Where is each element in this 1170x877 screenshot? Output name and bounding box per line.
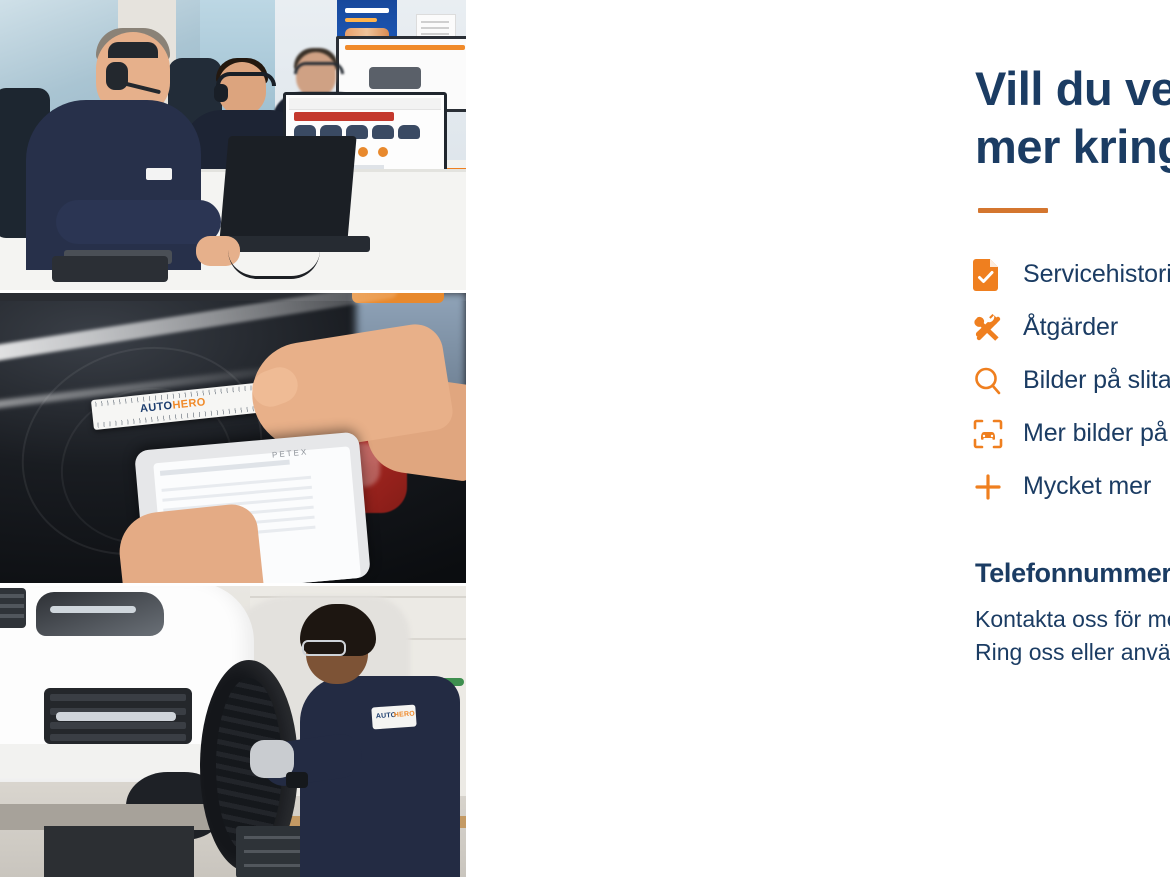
feature-item-atgarder: Åtgärder bbox=[973, 301, 1170, 354]
brand-logo-part2: HERO bbox=[172, 396, 206, 411]
feature-label: Bilder på slitage bbox=[1023, 366, 1170, 395]
feature-item-servicehistoriken: Servicehistoriken bbox=[973, 248, 1170, 301]
brand-logo-part1: AUTO bbox=[139, 400, 173, 415]
photo-column: AUTOHERO PETEX bbox=[0, 0, 466, 877]
page-title: Vill du veta mer kring: bbox=[975, 60, 1170, 176]
feature-item-mer-bilder-pa-bilen: Mer bilder på bilen bbox=[973, 407, 1170, 460]
title-divider bbox=[978, 208, 1048, 213]
car-scan-frame-icon bbox=[973, 419, 1023, 449]
contact-line-2: Ring oss eller använd kontaktformuläret. bbox=[975, 636, 1170, 669]
call-center-photo bbox=[0, 0, 466, 290]
plus-icon bbox=[973, 472, 1023, 502]
inspection-photo: AUTOHERO PETEX bbox=[0, 293, 466, 583]
headline-line-2: mer kring: bbox=[975, 118, 1170, 176]
checklist-document-icon bbox=[973, 259, 1023, 291]
feature-item-mycket-mer: Mycket mer bbox=[973, 460, 1170, 513]
contact-text: Kontakta oss för mer information! Ring o… bbox=[975, 603, 1170, 669]
brand-logo-part2-uniform: HERO bbox=[394, 711, 415, 719]
feature-label: Åtgärder bbox=[1023, 313, 1118, 342]
feature-list: Servicehistoriken Åtgärder bbox=[973, 248, 1170, 513]
contact-line-1: Kontakta oss för mer information! bbox=[975, 603, 1170, 636]
contact-block: Telefonnummer: +46812411432 Kontakta oss… bbox=[975, 558, 1170, 669]
feature-label: Mer bilder på bilen bbox=[1023, 419, 1170, 448]
workshop-tyre-photo: AUTOHERO bbox=[0, 586, 466, 877]
magnifier-icon bbox=[973, 366, 1023, 396]
wrench-screwdriver-icon bbox=[973, 312, 1023, 344]
promo-page: AUTOHERO PETEX bbox=[0, 0, 1170, 877]
feature-item-bilder-pa-slitage: Bilder på slitage bbox=[973, 354, 1170, 407]
content-panel: Vill du veta mer kring: Servicehistorike… bbox=[466, 0, 1170, 877]
headline-line-1: Vill du veta bbox=[975, 60, 1170, 118]
feature-label: Mycket mer bbox=[1023, 472, 1151, 501]
phone-number: Telefonnummer: +46812411432 bbox=[975, 558, 1170, 589]
feature-label: Servicehistoriken bbox=[1023, 260, 1170, 289]
